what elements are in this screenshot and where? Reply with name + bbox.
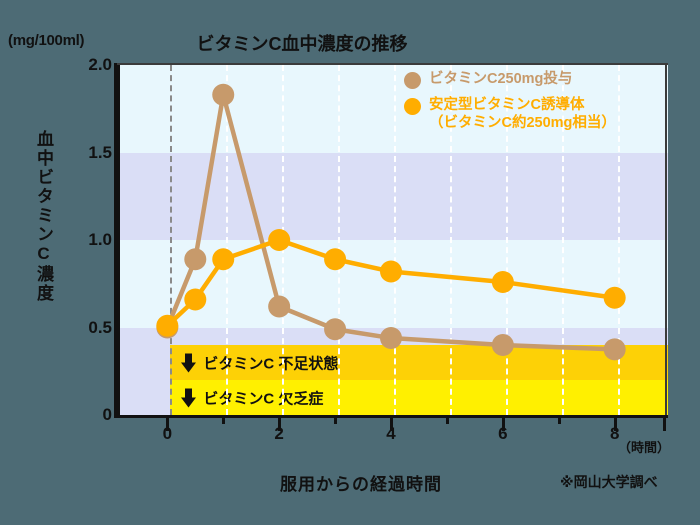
x-tick-mark-major bbox=[614, 415, 617, 431]
plot-right-border bbox=[665, 63, 667, 418]
legend-item-label: ビタミンC250mg投与 bbox=[429, 70, 572, 88]
y-tick-label: 1.5 bbox=[56, 143, 112, 163]
y-tick-label: 0 bbox=[56, 405, 112, 425]
x-tick-mark-major bbox=[166, 415, 169, 431]
legend-swatch-icon bbox=[404, 72, 421, 89]
series-data-point[interactable] bbox=[268, 296, 290, 318]
x-axis-end-tick bbox=[663, 415, 666, 431]
series-data-point[interactable] bbox=[324, 318, 346, 340]
series-data-point[interactable] bbox=[184, 289, 206, 311]
legend-item-label: 安定型ビタミンC誘導体（ビタミンC約250mg相当） bbox=[429, 96, 616, 132]
x-tick-mark-minor bbox=[334, 415, 337, 424]
chart-root: (mg/100ml) ビタミンC血中濃度の推移 血中ビタミンC濃度 服用からの経… bbox=[0, 0, 700, 525]
series-data-point[interactable] bbox=[268, 229, 290, 251]
x-tick-mark-minor bbox=[222, 415, 225, 424]
series-data-point[interactable] bbox=[492, 271, 514, 293]
series-data-point[interactable] bbox=[324, 248, 346, 270]
x-tick-mark-minor bbox=[558, 415, 561, 424]
legend-item[interactable]: ビタミンC250mg投与 bbox=[404, 70, 616, 89]
x-tick-mark-major bbox=[502, 415, 505, 431]
series-data-point[interactable] bbox=[212, 84, 234, 106]
series-data-point[interactable] bbox=[604, 287, 626, 309]
x-tick-mark-major bbox=[390, 415, 393, 431]
legend-item[interactable]: 安定型ビタミンC誘導体（ビタミンC約250mg相当） bbox=[404, 96, 616, 132]
series-data-point[interactable] bbox=[380, 261, 402, 283]
series-data-point[interactable] bbox=[184, 248, 206, 270]
x-tick-mark-major bbox=[278, 415, 281, 431]
y-tick-label: 2.0 bbox=[56, 55, 112, 75]
y-tick-label: 1.0 bbox=[56, 230, 112, 250]
series-data-point[interactable] bbox=[492, 334, 514, 356]
x-unit-label: （時間） bbox=[618, 437, 670, 456]
x-tick-mark-minor bbox=[446, 415, 449, 424]
y-axis-ticks: 00.51.01.52.0 bbox=[52, 0, 112, 525]
series-data-point[interactable] bbox=[156, 315, 178, 337]
legend-swatch-icon bbox=[404, 98, 421, 115]
y-axis-label: 血中ビタミンC濃度 bbox=[26, 130, 52, 303]
x-axis-label: 服用からの経過時間 bbox=[280, 470, 442, 495]
source-note: ※岡山大学調べ bbox=[560, 472, 658, 492]
series-line bbox=[167, 240, 614, 326]
series-data-point[interactable] bbox=[212, 248, 234, 270]
series-data-point[interactable] bbox=[380, 327, 402, 349]
y-tick-label: 0.5 bbox=[56, 318, 112, 338]
series-line bbox=[167, 95, 614, 350]
legend-item-sublabel: （ビタミンC約250mg相当） bbox=[429, 115, 616, 131]
series-data-point[interactable] bbox=[604, 338, 626, 360]
legend: ビタミンC250mg投与安定型ビタミンC誘導体（ビタミンC約250mg相当） bbox=[404, 70, 616, 132]
